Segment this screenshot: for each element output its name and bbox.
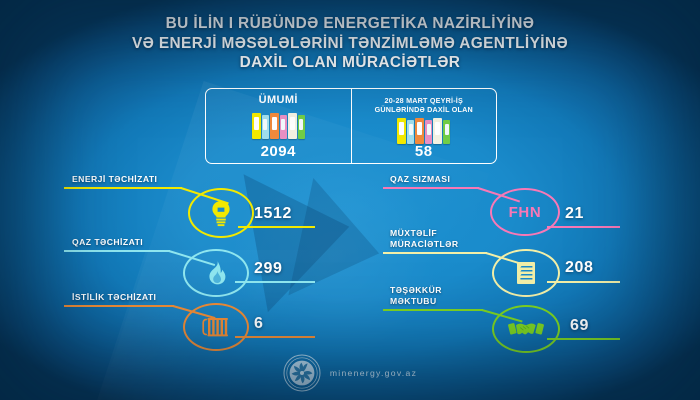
stat-tesekkur-mektubu-icon-circle	[492, 305, 560, 353]
summary-card-holidays-label-1: 20-28 MART QEYRİ-İŞ	[385, 95, 464, 106]
infographic-canvas: BU İLİN I RÜBÜNDƏ ENERGETİKA NAZİRLİYİNƏ…	[0, 0, 700, 400]
stat-muxtelif-muracietler-label-2: MÜRACİƏTLƏR	[390, 239, 459, 249]
background-chevron-2	[288, 178, 391, 312]
summary-card-holidays: 20-28 MART QEYRİ-İŞ GÜNLƏRİNDƏ DAXİL OLA…	[351, 89, 497, 163]
stat-qaz-techizati-label: QAZ TƏCHİZATI	[72, 237, 143, 247]
title-line-1: BU İLİN I RÜBÜNDƏ ENERGETİKA NAZİRLİYİNƏ	[0, 14, 700, 34]
stat-istilik-techizati-icon-circle	[183, 303, 249, 351]
stat-enerji-techizati-value: 1512	[254, 205, 292, 223]
stat-qaz-techizati-value-underline	[235, 281, 315, 283]
footer: minenergy.gov.az	[0, 354, 700, 392]
summary-cards: ÜMUMİ 2094 20-28 MART QEYRİ-İŞ GÜNLƏRİND…	[205, 88, 497, 164]
stat-tesekkur-mektubu-value-underline	[547, 338, 620, 340]
ministry-emblem-icon	[283, 354, 321, 392]
stat-enerji-techizati-underline	[64, 187, 182, 189]
stat-muxtelif-muracietler-value: 208	[565, 259, 594, 277]
stat-enerji-techizati-icon-circle	[188, 188, 254, 238]
stat-istilik-techizati-label: İSTİLİK TƏCHİZATI	[72, 292, 156, 302]
title-line-3: DAXİL OLAN MÜRACİƏTLƏR	[0, 53, 700, 73]
page-title: BU İLİN I RÜBÜNDƏ ENERGETİKA NAZİRLİYİNƏ…	[0, 14, 700, 73]
radiator-icon	[201, 315, 231, 339]
background-chevron-1	[244, 158, 362, 312]
stat-tesekkur-mektubu-value: 69	[570, 317, 589, 335]
stat-qaz-techizati-value: 299	[254, 260, 283, 278]
stat-qaz-techizati-icon-circle	[183, 249, 249, 297]
summary-card-total-value: 2094	[261, 143, 296, 160]
stat-qaz-sizmasi-underline	[383, 187, 479, 189]
flame-icon	[204, 260, 228, 286]
summary-card-total-label: ÜMUMİ	[259, 95, 298, 107]
stat-istilik-techizati-underline	[64, 305, 174, 307]
lightbulb-icon	[208, 199, 234, 227]
stat-qaz-sizmasi-label: QAZ SIZMASI	[390, 174, 450, 184]
stat-tesekkur-mektubu-underline	[383, 309, 483, 311]
stat-enerji-techizati-label: ENERJİ TƏCHİZATI	[72, 174, 157, 184]
stat-qaz-sizmasi-icon-circle: FHN	[490, 188, 560, 236]
stat-enerji-techizati-value-underline	[238, 226, 315, 228]
summary-card-total: ÜMUMİ 2094	[206, 89, 351, 163]
stat-qaz-techizati-underline	[64, 250, 170, 252]
stat-muxtelif-muracietler-icon-circle	[492, 249, 560, 297]
fhn-icon: FHN	[509, 204, 542, 221]
summary-card-holidays-value: 58	[415, 143, 433, 160]
stat-istilik-techizati-value-underline	[235, 336, 315, 338]
website-url: minenergy.gov.az	[330, 368, 417, 378]
summary-card-holidays-label-2: GÜNLƏRİNDƏ DAXİL OLAN	[375, 106, 473, 115]
handshake-icon	[508, 318, 544, 340]
checklist-icon	[514, 260, 538, 286]
stat-muxtelif-muracietler-underline	[383, 252, 487, 254]
stat-qaz-sizmasi-value-underline	[547, 226, 620, 228]
stat-muxtelif-muracietler-value-underline	[547, 281, 620, 283]
binders-icon	[252, 111, 305, 139]
title-line-2: VƏ ENERJİ MƏSƏLƏLƏRİNİ TƏNZİMLƏMƏ AGENTL…	[0, 34, 700, 54]
stat-qaz-sizmasi-value: 21	[565, 205, 584, 223]
stat-tesekkur-mektubu-label-1: TƏŞƏKKÜR	[390, 285, 442, 295]
stat-istilik-techizati-value: 6	[254, 315, 264, 333]
binders-icon	[397, 116, 450, 144]
stat-muxtelif-muracietler-label-1: MÜXTƏLİF	[390, 228, 437, 238]
stat-tesekkur-mektubu-label-2: MƏKTUBU	[390, 296, 437, 306]
